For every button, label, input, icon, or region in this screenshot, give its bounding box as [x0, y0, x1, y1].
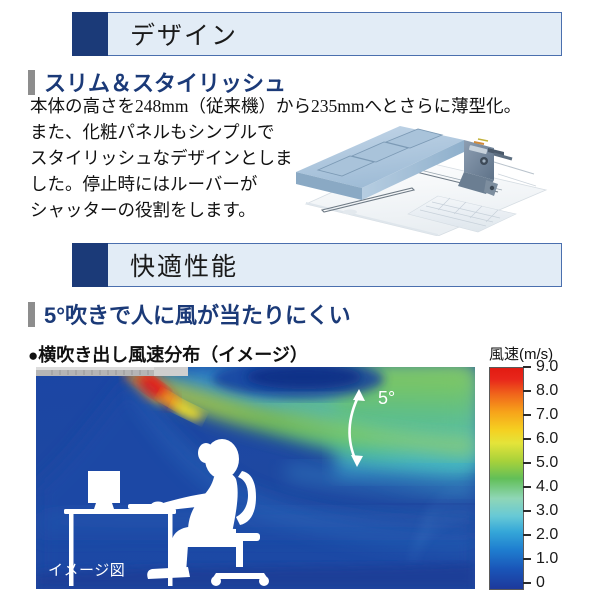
legend-tick: 3.0 [523, 504, 558, 518]
legend-tick: 8.0 [523, 384, 558, 398]
section-header-comfort: 快適性能 [72, 243, 562, 287]
cfd-image-caption: イメージ図 [48, 559, 125, 580]
body-line-1: 本体の高さを248mm（従来機）から235mmへとさらに薄型化。 [30, 93, 500, 119]
tick-mark [523, 462, 531, 464]
subheading-five-degree-label: 5°吹きで人に風が当たりにくい [44, 298, 351, 330]
tick-mark [523, 510, 531, 512]
cfd-figure-label: ●横吹き出し風速分布（イメージ） [28, 341, 308, 367]
subheading-accent-bar [28, 70, 35, 95]
section-header-accent-tab [72, 243, 108, 287]
legend-colorbar [489, 367, 524, 590]
tick-mark [523, 414, 531, 416]
tick-mark [523, 390, 531, 392]
cfd-velocity-heatmap [36, 367, 475, 589]
legend-tick: 0 [523, 576, 545, 590]
subheading-accent-bar [28, 302, 35, 327]
cfd-angle-label: 5° [378, 388, 395, 409]
tick-mark [523, 558, 531, 560]
section-header-bar: 快適性能 [108, 243, 562, 287]
bullet-dot-icon: ● [28, 346, 38, 365]
tick-mark [523, 582, 531, 584]
legend-tick: 2.0 [523, 528, 558, 542]
product-photo-ceiling-cassette [288, 118, 558, 236]
brochure-page: デザイン スリム＆スタイリッシュ 本体の高さを248mm（従来機）から235mm… [0, 0, 600, 600]
cfd-figure-label-text: 横吹き出し風速分布（イメージ） [38, 345, 308, 365]
legend-tick: 1.0 [523, 552, 558, 566]
section-header-comfort-title: 快適性能 [108, 247, 238, 283]
cfd-contour-field [36, 367, 475, 589]
section-header-bar: デザイン [108, 12, 562, 56]
section-header-accent-tab [72, 12, 108, 56]
legend-tick-list: 9.0 8.0 7.0 6.0 5.0 4.0 3.0 2.0 1.0 0 [523, 360, 583, 596]
section-header-design-title: デザイン [108, 16, 238, 52]
legend-tick: 4.0 [523, 480, 558, 494]
legend-tick: 6.0 [523, 432, 558, 446]
tick-mark [523, 366, 531, 368]
legend-tick: 7.0 [523, 408, 558, 422]
section-header-design: デザイン [72, 12, 562, 56]
legend-tick: 5.0 [523, 456, 558, 470]
tick-mark [523, 486, 531, 488]
legend-tick: 9.0 [523, 360, 558, 374]
subheading-five-degree: 5°吹きで人に風が当たりにくい [28, 298, 351, 330]
tick-mark [523, 438, 531, 440]
tick-mark [523, 534, 531, 536]
